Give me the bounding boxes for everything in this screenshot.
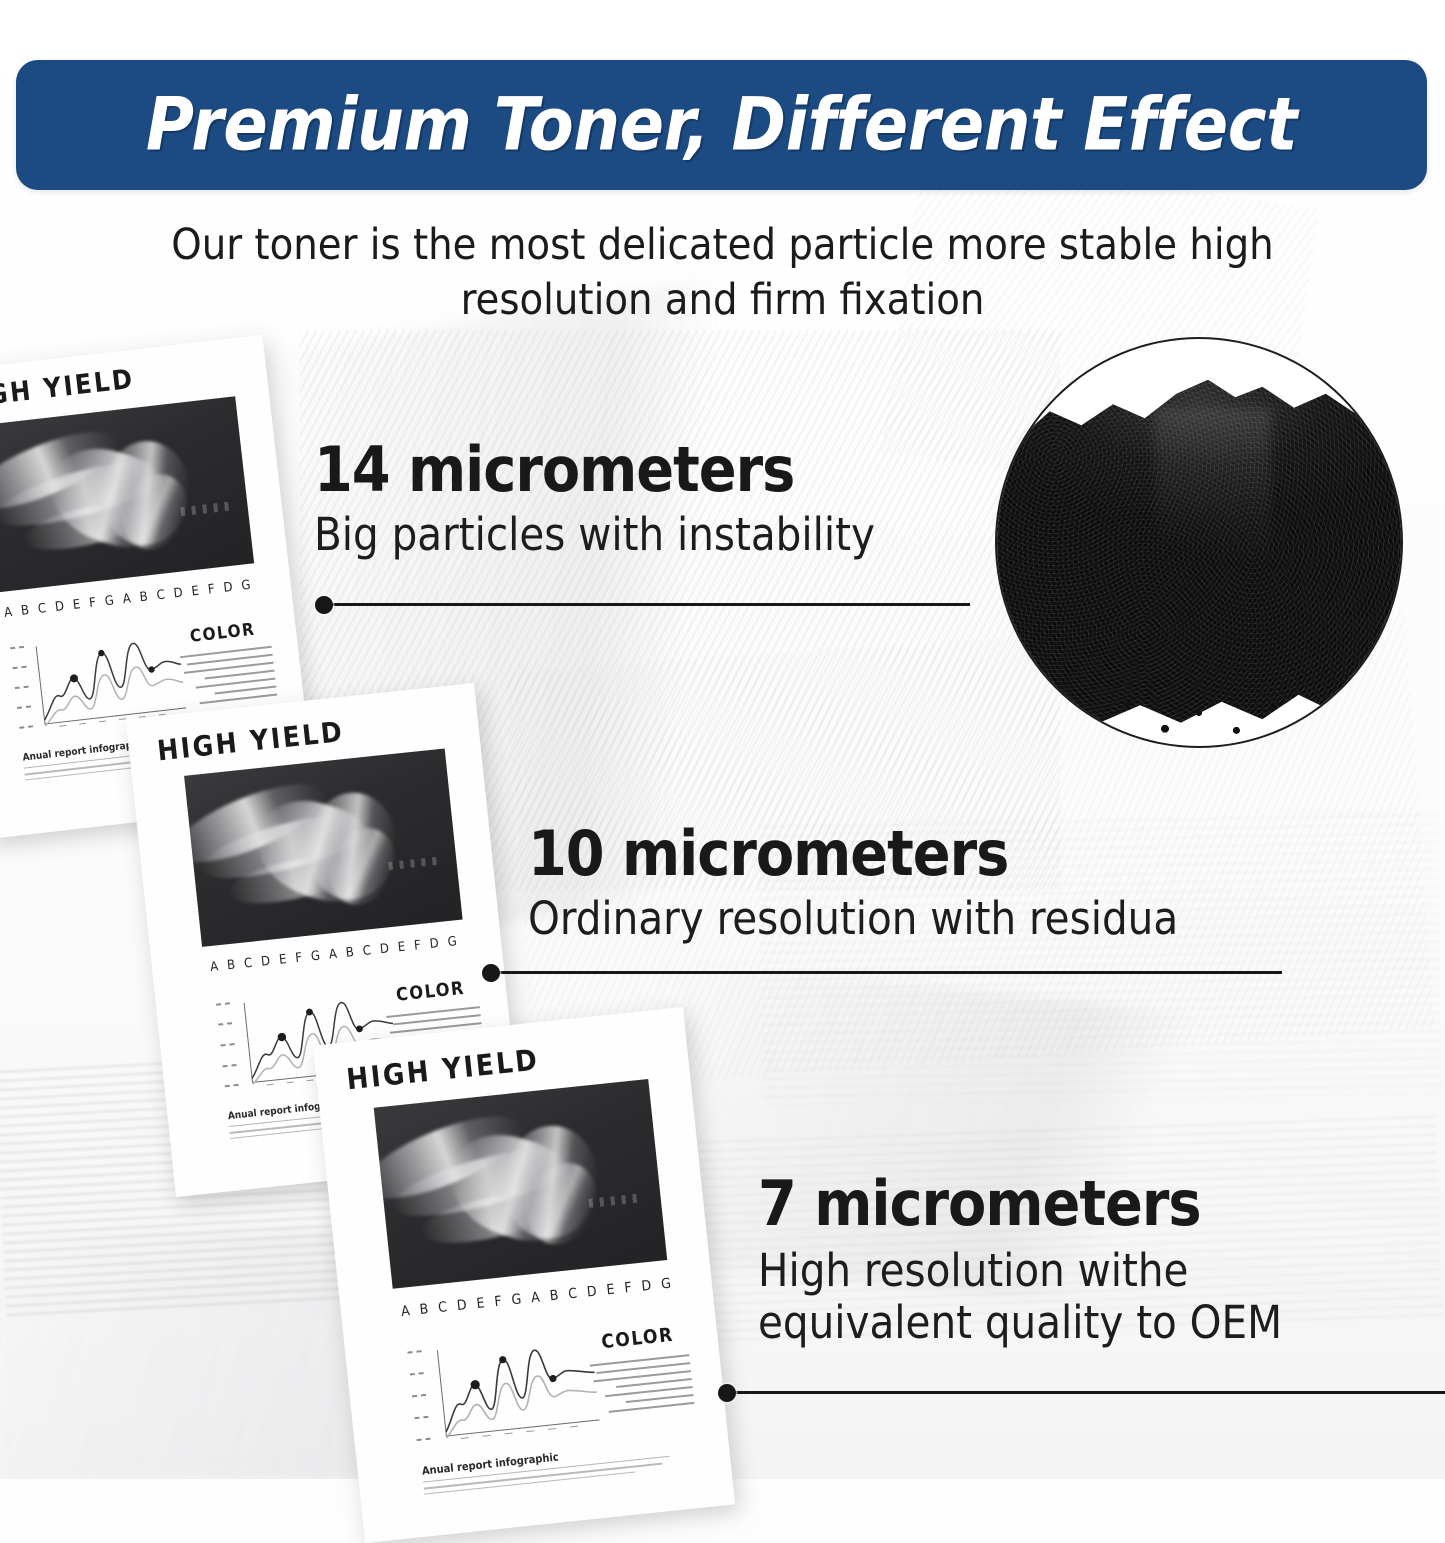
chart-y-tick [10,645,26,649]
letter-d-3: D [54,599,65,615]
letter-c-9: C [156,588,166,604]
letter-d-13: D [641,1278,652,1295]
text-line [215,686,277,695]
chart-y-tick [223,1063,239,1067]
doc-title: HIGH YIELD [0,364,136,415]
connector-line [727,1391,1445,1394]
page-subtitle: Our toner is the most delicated particle… [105,218,1340,328]
callout-description: Ordinary resolution with residua [528,893,1298,945]
callout-14-micrometers: 14 micrometers Big particles with instab… [314,438,994,561]
doc-color-textlines [590,1354,695,1414]
letter-a-7: A [530,1290,540,1307]
letter-e-4: E [278,952,287,968]
letter-d-3: D [260,954,271,970]
doc-photo [374,1079,668,1289]
text-line [424,1471,635,1495]
chart-y-tick [414,1415,431,1419]
callout-description-line2: equivalent quality to OEM [758,1297,1378,1349]
callout-connector-1 [315,594,970,614]
text-line [200,693,278,704]
callout-size-label: 7 micrometers [758,1172,1378,1235]
chart-y-tick [17,705,33,709]
letter-g-6: G [104,593,115,609]
letter-g-6: G [310,949,321,965]
letter-d-3: D [456,1297,467,1314]
chart-svg [407,1328,603,1451]
doc-caption-block: Anual report infographic [421,1439,671,1495]
letter-b-8: B [139,590,149,606]
letter-c-2: C [37,601,47,617]
callout-connector-2 [482,962,1282,982]
letter-f-12: F [413,938,421,954]
connector-dot [482,964,500,982]
chart-y-tick [15,685,31,689]
callout-size-label: 14 micrometers [314,438,994,501]
doc-photo [0,396,254,592]
doc-color-heading: COLOR [395,978,466,1006]
letter-b-1: B [226,958,236,974]
chart-y-tick [410,1372,427,1376]
letter-g-14: G [241,578,252,594]
callout-connector-3 [718,1382,1445,1402]
connector-line [324,603,970,606]
letter-a-0: A [3,605,13,621]
letter-e-11: E [397,940,406,956]
doc-color-textlines [180,646,277,706]
letter-f-12: F [624,1280,633,1297]
letter-b-1: B [20,603,30,619]
photo-dot-row [388,856,441,870]
letter-a-7: A [328,947,338,963]
header-banner: Premium Toner, Different Effect [16,60,1427,190]
letter-f-5: F [295,951,303,967]
text-line [609,1402,695,1413]
connector-line [491,971,1282,974]
letter-d-10: D [379,941,390,957]
text-line [626,1394,694,1403]
letter-c-9: C [362,943,372,959]
callout-description: Big particles with instability [314,509,994,561]
chart-y-tick [216,1002,232,1006]
letter-g-14: G [447,934,458,950]
letter-b-1: B [419,1301,429,1318]
letter-f-5: F [494,1294,503,1311]
doc-title: HIGH YIELD [156,715,346,767]
letter-a-0: A [209,959,219,975]
callout-7-micrometers: 7 micrometers High resolution withe equi… [758,1172,1378,1350]
letter-e-4: E [476,1295,486,1312]
toner-powder-photo [995,337,1403,748]
connector-dot [315,596,333,614]
letter-g-6: G [511,1291,522,1308]
powder-highlight-ridge [1154,408,1272,625]
letter-a-0: A [400,1303,410,1320]
doc-color-heading: COLOR [600,1324,674,1353]
chart-y-tick [12,665,28,669]
letter-d-13: D [223,580,234,596]
callout-size-label: 10 micrometers [528,822,1298,885]
letter-f-5: F [88,595,96,611]
letter-c-9: C [567,1286,577,1303]
callout-10-micrometers: 10 micrometers Ordinary resolution with … [528,822,1298,945]
letter-d-10: D [586,1284,597,1301]
letter-c-2: C [437,1299,447,1316]
chart-y-tick [412,1393,429,1397]
chart-y-tick [220,1043,236,1047]
letter-e-4: E [72,597,81,613]
letter-c-2: C [243,956,253,972]
doc-title: HIGH YIELD [345,1042,541,1096]
letter-d-10: D [173,586,184,602]
photo-dot-row [589,1193,645,1208]
letter-e-11: E [606,1282,616,1299]
chart-y-tick [407,1350,424,1354]
chart-y-tick [218,1022,234,1026]
letter-a-7: A [122,591,132,607]
mini-line-chart [407,1328,603,1451]
letter-d-13: D [429,936,440,952]
doc-photo [184,748,463,946]
page-title: Premium Toner, Different Effect [16,83,1427,168]
letter-f-12: F [207,582,215,598]
letter-b-8: B [549,1288,559,1305]
letter-b-8: B [345,945,355,961]
document-page-3: HIGH YIELD ABCDEFGABCDEFDG [313,1007,735,1543]
powder-mound [995,380,1403,730]
letter-e-11: E [191,584,200,600]
doc-color-heading: COLOR [189,620,256,647]
callout-description: High resolution withe [758,1245,1378,1297]
letter-g-14: G [660,1276,671,1293]
powder-scattered-grains [1029,689,1368,742]
connector-dot [718,1384,736,1402]
